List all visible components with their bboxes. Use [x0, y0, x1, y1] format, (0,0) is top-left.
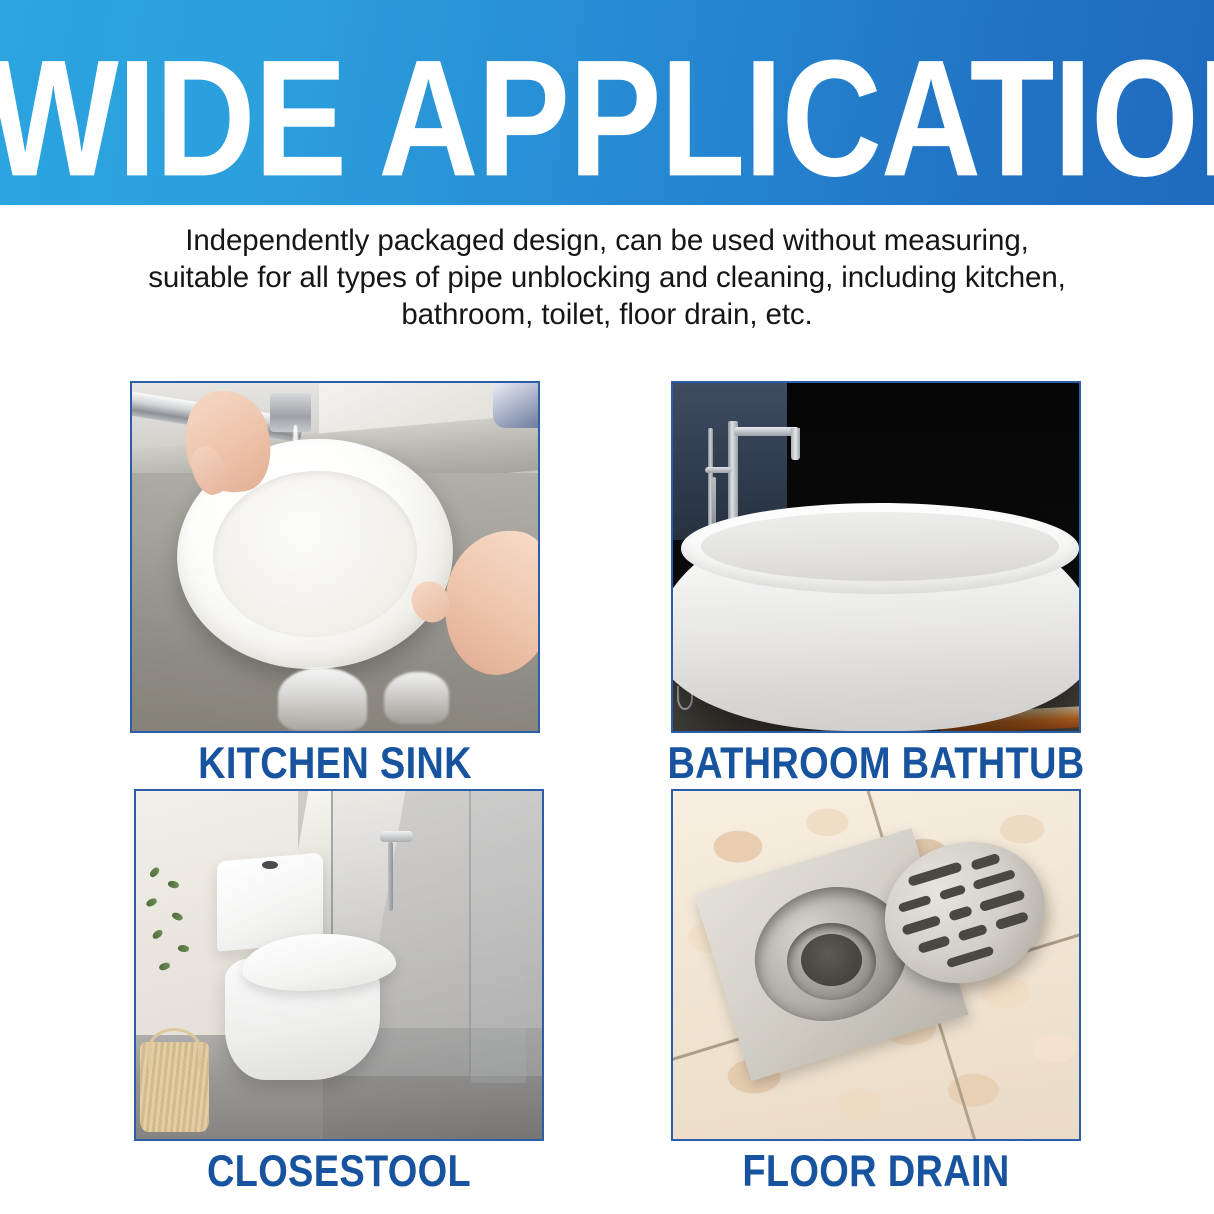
- page-title: WIDE APPLICATION: [0, 46, 1214, 190]
- application-grid: KITCHEN SINK BATHROOM BATHTUB: [0, 378, 1214, 1178]
- caption-bathroom-bathtub: BATHROOM BATHTUB: [611, 733, 1141, 794]
- header-banner: WIDE APPLICATION: [0, 0, 1214, 205]
- floor-drain-photo: [671, 789, 1081, 1141]
- closestool-photo: [134, 789, 544, 1141]
- caption-floor-drain: FLOOR DRAIN: [611, 1141, 1141, 1202]
- bathroom-bathtub-photo: [671, 381, 1081, 733]
- caption-closestool: CLOSESTOOL: [74, 1141, 604, 1202]
- application-card-bathroom-bathtub: BATHROOM BATHTUB: [671, 381, 1081, 733]
- subtitle-description: Independently packaged design, can be us…: [132, 222, 1082, 333]
- application-card-floor-drain: FLOOR DRAIN: [671, 789, 1081, 1141]
- application-card-kitchen-sink: KITCHEN SINK: [130, 381, 540, 733]
- caption-kitchen-sink: KITCHEN SINK: [70, 733, 600, 794]
- kitchen-sink-photo: [130, 381, 540, 733]
- application-card-closestool: CLOSESTOOL: [134, 789, 544, 1141]
